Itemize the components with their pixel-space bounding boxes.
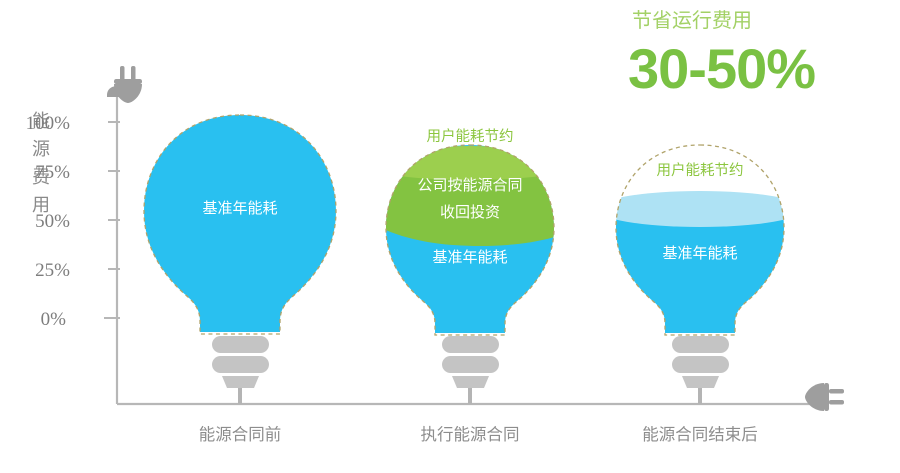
bulb-contact-1 [222, 376, 259, 388]
bulb-contact-3 [682, 376, 719, 388]
power-plug-icon-top [107, 66, 142, 103]
bulb-thread-3a [672, 336, 729, 353]
bulb-thread-2a [442, 336, 499, 353]
y-tick-25: 25% [35, 260, 120, 281]
bulb-1-blue-label: 基准年能耗 [202, 200, 277, 217]
headline-value: 30-50% [628, 37, 815, 100]
bulb-base-3 [672, 336, 729, 404]
bulb-3-saving-label: 用户能耗节约 [657, 162, 744, 179]
y-tick-0: 0% [41, 309, 120, 330]
power-plug-icon-right [805, 383, 844, 411]
y-tick-label-0: 0% [41, 309, 67, 330]
bulb-2-green-label-line1: 公司按能源合同 [417, 177, 522, 194]
y-tick-label-75: 75% [35, 162, 70, 183]
y-tick-100: 100% [26, 113, 120, 134]
bulb-before-contract[interactable]: 基准年能耗 [130, 100, 360, 404]
y-tick-label-50: 50% [35, 211, 70, 232]
bulb-during-contract[interactable]: 用户能耗节约 公司按能源合同 收回投资 基准年能耗 [360, 120, 590, 404]
infographic-canvas: 节省运行费用 30-50% 能 源 费 用 [0, 0, 900, 473]
y-tick-75: 75% [35, 162, 120, 183]
bulb-contact-2 [452, 376, 489, 388]
x-axis-label-2: 能源合同结束后 [642, 425, 758, 444]
x-axis-label-1: 执行能源合同 [421, 425, 520, 444]
headline-subtitle: 节省运行费用 [632, 9, 752, 32]
bulb-fill-3 [596, 191, 820, 383]
x-axis-label-0: 能源合同前 [199, 425, 282, 444]
x-axis-labels: 能源合同前 执行能源合同 能源合同结束后 [199, 425, 758, 444]
bulb-base-1 [212, 336, 269, 404]
bulb-thread-3b [672, 356, 729, 373]
y-tick-label-25: 25% [35, 260, 70, 281]
bulb-base-2 [442, 336, 499, 404]
bulb-thread-1a [212, 336, 269, 353]
y-axis-title-char-1: 源 [32, 139, 50, 159]
bulb-after-contract[interactable]: 用户能耗节约 基准年能耗 [596, 145, 820, 404]
bulb-thread-1b [212, 356, 269, 373]
headline-block: 节省运行费用 30-50% [628, 9, 815, 100]
bulb-2-saving-label: 用户能耗节约 [427, 128, 514, 145]
bulb-2-green-label-line2: 收回投资 [440, 204, 500, 221]
y-tick-label-100: 100% [26, 113, 71, 134]
y-tick-50: 50% [35, 211, 120, 232]
bulb-fill-1 [130, 100, 360, 350]
bulb-thread-2b [442, 356, 499, 373]
bulb-3-blue-label: 基准年能耗 [662, 245, 737, 262]
bulb-2-blue-label: 基准年能耗 [432, 249, 507, 266]
